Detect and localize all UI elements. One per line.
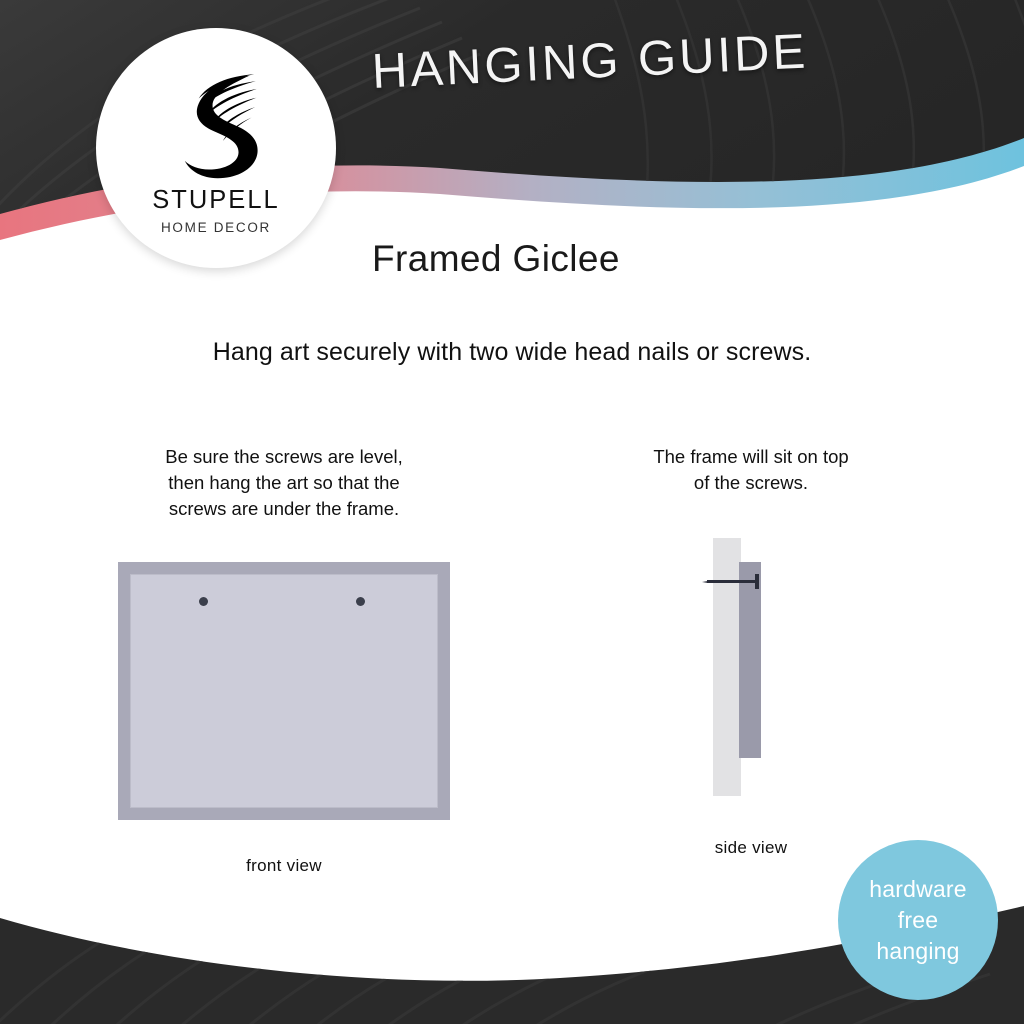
screw-shaft-icon [707,580,757,583]
brand-badge: STUPELL HOME DECOR [96,28,336,268]
page-title-text: HANGING GUIDE [371,20,893,100]
hanging-guide-page: STUPELL HOME DECOR HANGING GUIDE Framed … [0,0,1024,1024]
brand-name: STUPELL [152,186,279,215]
page-title: HANGING GUIDE [371,20,893,100]
front-caption-line-2: then hang the art so that the [84,470,484,496]
hardware-badge-line-2: free [898,905,938,936]
wall-strip [713,538,741,796]
hardware-badge-line-1: hardware [869,874,967,905]
stupell-swoosh-logo-icon [164,62,268,180]
front-caption-line-3: screws are under the frame. [84,496,484,522]
side-view-diagram [546,530,956,802]
brand-subtitle: HOME DECOR [161,220,271,235]
screw-dot-left [199,597,208,606]
screw-dot-right [356,597,365,606]
front-view-diagram [84,562,484,820]
hardware-free-hanging-badge: hardware free hanging [838,840,998,1000]
front-view-label: front view [84,856,484,876]
side-caption-line-2: of the screws. [546,470,956,496]
screw-head-icon [755,574,759,589]
front-caption-line-1: Be sure the screws are level, [84,444,484,470]
side-view-column: The frame will sit on top of the screws.… [570,444,1024,876]
front-frame-outer [118,562,450,820]
diagram-columns: Be sure the screws are level, then hang … [0,444,1024,876]
side-frame-strip [739,562,761,758]
lead-instruction: Hang art securely with two wide head nai… [0,338,1024,367]
front-view-caption: Be sure the screws are level, then hang … [84,444,484,522]
side-view-caption: The frame will sit on top of the screws. [546,444,956,496]
hardware-badge-line-3: hanging [876,936,959,967]
side-view-stage [691,530,811,802]
side-caption-line-1: The frame will sit on top [546,444,956,470]
product-type-label: Framed Giclee [372,238,620,280]
front-view-column: Be sure the screws are level, then hang … [0,444,570,876]
front-frame-mat [130,574,438,808]
